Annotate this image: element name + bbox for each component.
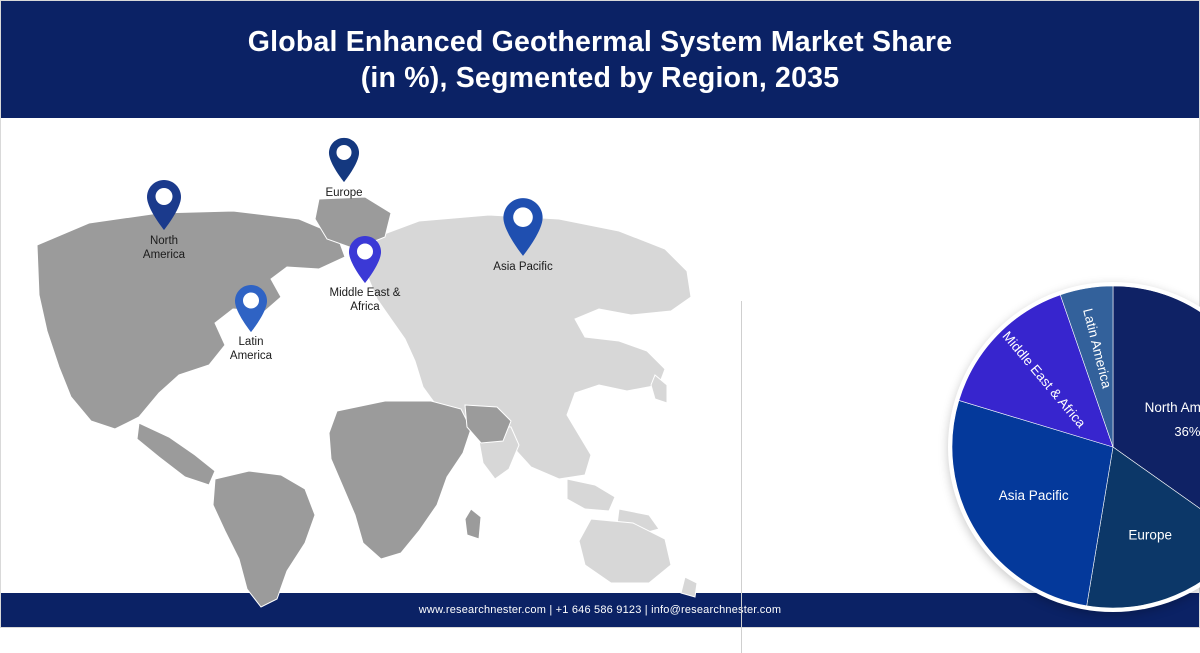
map-pin-europe[interactable]: Europe [327,137,361,183]
location-pin-icon [145,179,183,231]
location-pin-icon [327,137,361,183]
header-bar: Global Enhanced Geothermal System Market… [1,1,1199,119]
map-pin-asia-pacific[interactable]: Asia Pacific [501,197,545,257]
map-pin-label-europe: Europe [325,187,362,201]
location-pin-icon [233,284,269,333]
location-pin-icon [347,235,383,284]
pie-slice-group [952,286,1200,608]
map-pin-label-asia-pacific: Asia Pacific [493,261,552,275]
map-pin-label-middle-east-africa: Middle East & Africa [330,287,401,314]
page-title: Global Enhanced Geothermal System Market… [208,24,993,96]
map-pin-label-line-1: Asia Pacific [493,261,552,275]
page-title-line-1: Global Enhanced Geothermal System Market… [248,26,953,58]
content-area: North America Europe [1,119,1199,593]
map-pin-label-north-america: North America [143,235,185,262]
map-pin-label-line-2: America [143,249,185,263]
map-pin-label-line-1: Europe [325,187,362,201]
map-pin-north-america[interactable]: North America [145,179,183,231]
pie-slice-label-europe: Europe [1128,528,1172,543]
world-map: North America Europe [19,179,719,609]
infographic-root: Global Enhanced Geothermal System Market… [0,0,1200,628]
map-pin-middle-east-africa[interactable]: Middle East & Africa [347,235,383,284]
pie-chart: North America36%EuropeAsia PacificMiddle… [951,285,1200,609]
world-map-panel: North America Europe [1,119,741,593]
map-pin-latin-america[interactable]: Latin America [233,284,269,333]
map-pin-label-latin-america: Latin America [230,336,272,363]
map-pin-label-line-1: Latin [230,336,272,350]
pie-chart-panel: North America36%EuropeAsia PacificMiddle… [741,119,1199,593]
pie-slice-label-asia-pacific: Asia Pacific [999,488,1069,503]
map-pin-label-line-2: America [230,350,272,364]
location-pin-icon [501,197,545,257]
pie-slice-value-north-america: 36% [1174,424,1200,439]
map-pin-label-line-1: North [143,235,185,249]
map-pin-label-line-2: Africa [330,301,401,315]
map-pin-label-line-1: Middle East & [330,287,401,301]
page-title-line-2: (in %), Segmented by Region, 2035 [248,60,953,96]
pie-slice-label-north-america: North America [1145,400,1200,415]
